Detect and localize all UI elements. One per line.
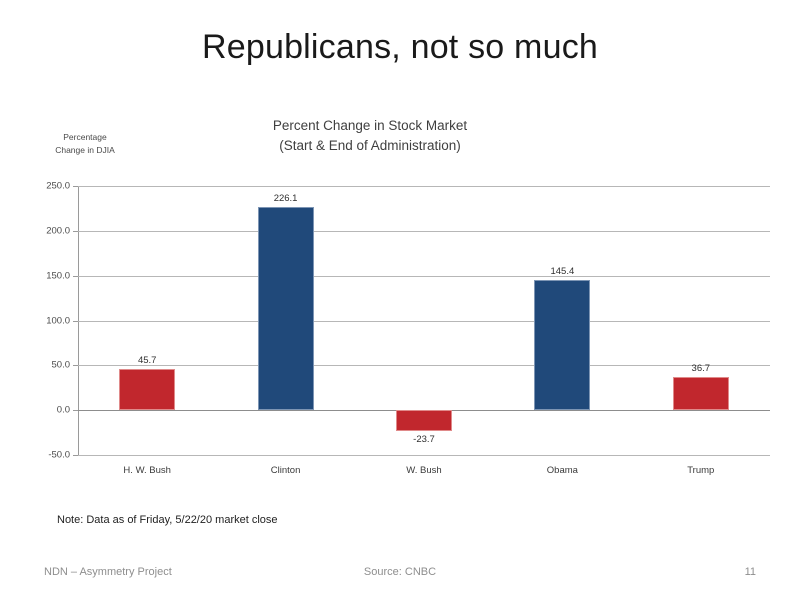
x-axis-label-slot: W. Bush [355,455,493,483]
y-axis-tick-label: 50.0 [18,360,70,371]
chart-bar[interactable] [119,369,175,410]
bar-value-label: -23.7 [413,434,435,445]
bar-value-label: 145.4 [550,266,574,277]
y-axis-tick-labels: 250.0200.0150.0100.050.00.0-50.0 [14,186,70,455]
bar-value-label: 45.7 [138,355,157,366]
x-axis-tick-labels: H. W. BushClintonW. BushObamaTrump [78,455,770,483]
x-axis-label-slot: Clinton [216,455,354,483]
chart-category-slot: 36.7 [632,186,770,455]
chart-category-slot: 145.4 [493,186,631,455]
chart-bar[interactable] [258,207,314,410]
chart-plot-area: 45.7226.1-23.7145.436.7 [78,186,770,455]
footer-page-number: 11 [745,566,756,578]
y-axis-caption-line2: Change in DJIA [30,144,140,157]
chart-title-line1: Percent Change in Stock Market [160,116,580,136]
y-axis-tick-label: 100.0 [18,315,70,326]
x-axis-tick-label: Obama [547,465,578,476]
chart-title-line2: (Start & End of Administration) [160,136,580,156]
page-title: Republicans, not so much [0,28,800,67]
y-axis-tick-label: 200.0 [18,225,70,236]
x-axis-label-slot: Obama [493,455,631,483]
chart-category-slot: 45.7 [78,186,216,455]
y-axis-tick-label: 250.0 [18,181,70,192]
chart-bar[interactable] [673,377,729,410]
chart-bar[interactable] [396,410,452,431]
chart-note: Note: Data as of Friday, 5/22/20 market … [57,514,278,526]
x-axis-label-slot: Trump [632,455,770,483]
chart-category-slot: -23.7 [355,186,493,455]
x-axis-label-slot: H. W. Bush [78,455,216,483]
chart-category-slot: 226.1 [216,186,354,455]
x-axis-tick-label: Trump [687,465,714,476]
y-axis-caption-line1: Percentage [30,131,140,144]
chart-bar[interactable] [534,280,590,410]
bar-value-label: 36.7 [692,363,711,374]
chart-title: Percent Change in Stock Market (Start & … [160,116,580,155]
slide-footer: NDN – Asymmetry Project Source: CNBC 11 [0,566,800,586]
y-axis-tick-label: -50.0 [18,450,70,461]
x-axis-tick-label: Clinton [271,465,301,476]
x-axis-tick-label: H. W. Bush [123,465,171,476]
x-axis-tick-label: W. Bush [406,465,441,476]
y-axis-caption: Percentage Change in DJIA [30,131,140,157]
bar-value-label: 226.1 [274,193,298,204]
y-axis-tick-label: 150.0 [18,270,70,281]
footer-source: Source: CNBC [0,566,800,578]
y-axis-tick-label: 0.0 [18,405,70,416]
